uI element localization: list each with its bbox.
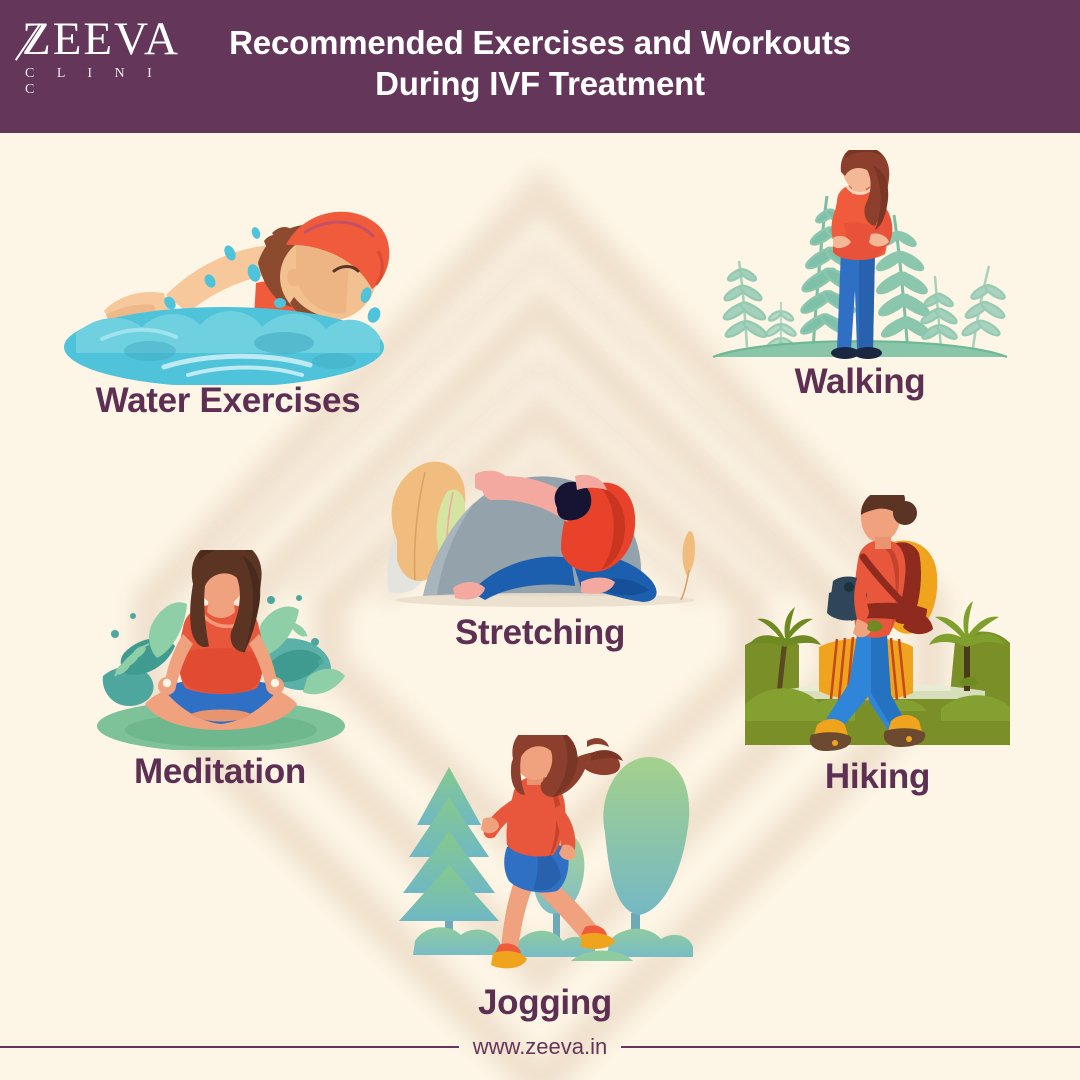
item-label-stretching: Stretching — [375, 613, 705, 653]
item-label-water-exercises: Water Exercises — [58, 381, 398, 421]
meditating-woman-illustration — [75, 550, 365, 750]
item-hiking: Hiking — [745, 495, 1010, 755]
page-title-line1: Recommended Exercises and Workouts — [229, 24, 851, 61]
hiker-with-backpack-illustration — [745, 495, 1010, 755]
item-label-meditation: Meditation — [75, 752, 365, 792]
jogging-woman-illustration — [395, 735, 695, 985]
footer-divider-right — [621, 1046, 1080, 1048]
swimmer-illustration — [58, 185, 398, 385]
item-label-walking: Walking — [705, 362, 1015, 402]
footer-divider-left — [0, 1046, 459, 1048]
item-stretching: Stretching — [375, 430, 705, 615]
item-walking: Walking — [705, 150, 1015, 365]
yoga-stretching-illustration — [375, 430, 705, 615]
item-meditation: Meditation — [75, 550, 365, 750]
infographic-poster: ZEEVA C L I N I C Recommended Exercises … — [0, 0, 1080, 1080]
item-water-exercises: Water Exercises — [58, 185, 398, 385]
logo-wordmark: ZEEVA — [22, 14, 180, 64]
page-title: Recommended Exercises and Workouts Durin… — [180, 22, 900, 104]
page-title-line2: During IVF Treatment — [375, 65, 705, 102]
zeeva-logo: ZEEVA C L I N I C — [18, 14, 168, 86]
logo-subtitle: C L I N I C — [25, 66, 168, 98]
item-label-jogging: Jogging — [395, 983, 695, 1023]
item-jogging: Jogging — [395, 735, 695, 985]
item-label-hiking: Hiking — [745, 757, 1010, 797]
header-bar: ZEEVA C L I N I C Recommended Exercises … — [0, 0, 1080, 133]
pregnant-woman-walking-illustration — [705, 150, 1015, 365]
footer-website[interactable]: www.zeeva.in — [459, 1034, 622, 1060]
footer-bar: www.zeeva.in — [0, 1032, 1080, 1062]
